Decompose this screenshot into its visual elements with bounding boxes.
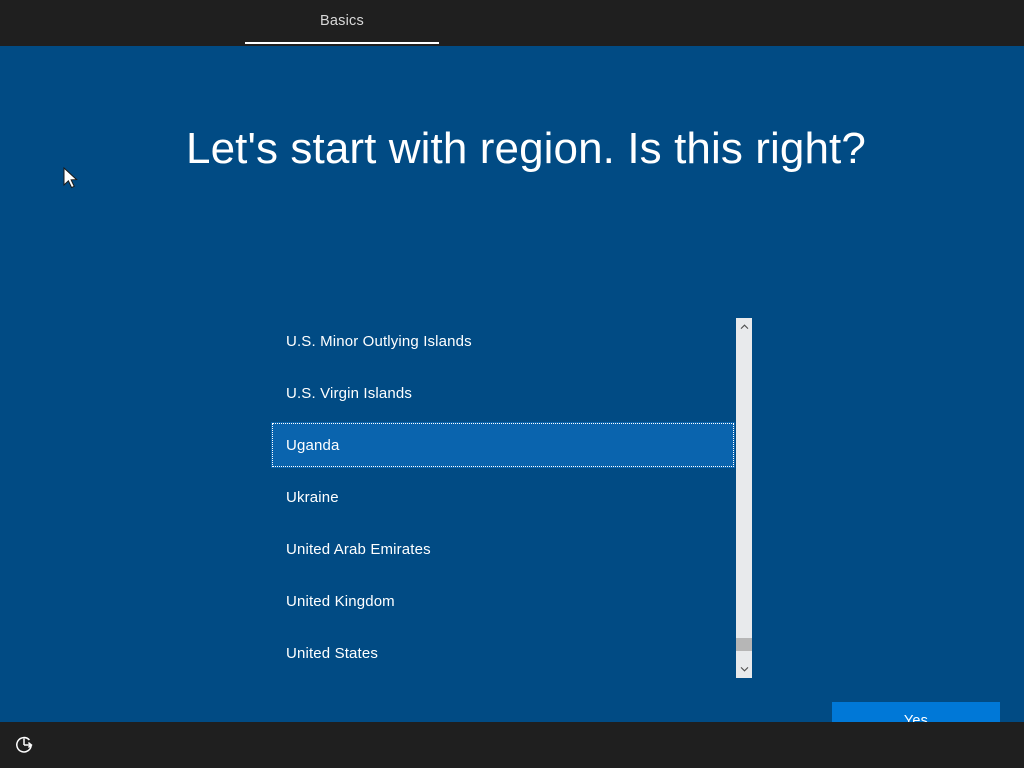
bottom-bar [0,722,1024,768]
list-item[interactable]: Ukraine [271,474,735,520]
chevron-down-icon [740,666,749,672]
tab-basics-label: Basics [320,14,364,33]
region-list[interactable]: U.S. Minor Outlying Islands U.S. Virgin … [271,272,752,638]
list-item[interactable]: U.S. Virgin Islands [271,370,735,416]
top-tab-bar: Basics [0,0,1024,46]
scroll-up-button[interactable] [736,318,752,336]
page-title: Let's start with region. Is this right? [186,124,866,174]
scroll-down-button[interactable] [736,660,752,678]
list-item[interactable]: United Arab Emirates [271,526,735,572]
list-item[interactable]: United States [271,630,735,676]
list-item[interactable]: U.S. Minor Outlying Islands [271,318,735,364]
list-item-selected[interactable]: Uganda [271,422,735,468]
tab-active-indicator [245,42,439,44]
scrollbar-thumb[interactable] [736,638,752,651]
tab-basics[interactable]: Basics [245,0,439,46]
list-item[interactable]: United Kingdom [271,578,735,624]
region-list-scrollbar[interactable] [736,318,752,678]
main-content-area: Let's start with region. Is this right? … [0,46,1024,722]
chevron-up-icon [740,324,749,330]
ease-of-access-icon [13,734,35,756]
ease-of-access-button[interactable] [11,732,37,758]
